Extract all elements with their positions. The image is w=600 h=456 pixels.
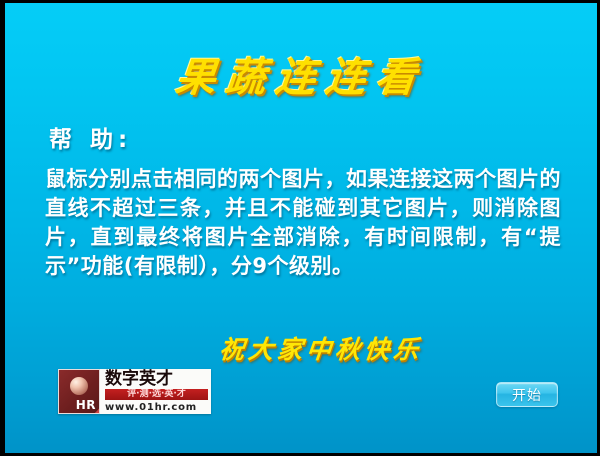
start-button-label: 开始 (512, 385, 542, 405)
game-screen: 果蔬连连看 帮 助: 鼠标分别点击相同的两个图片，如果连接这两个图片的直线不超过… (5, 3, 597, 453)
start-button[interactable]: 开始 (496, 382, 558, 407)
brand-url: www.01hr.com (105, 401, 208, 414)
brand-name: 数字英才 (105, 370, 208, 388)
game-window: 果蔬连连看 帮 助: 鼠标分别点击相同的两个图片，如果连接这两个图片的直线不超过… (0, 0, 600, 456)
help-heading: 帮 助: (49, 120, 132, 154)
page-title: 果蔬连连看 (5, 45, 597, 103)
brand-slogan: 评·测·选·英·才 (105, 389, 208, 400)
hr-logo-mark-icon: HR (58, 369, 100, 414)
logo-hr-label: HR (76, 398, 96, 412)
greeting-text: 祝大家中秋快乐 (5, 330, 597, 366)
help-body-text: 鼠标分别点击相同的两个图片，如果连接这两个图片的直线不超过三条，并且不能碰到其它… (45, 165, 561, 281)
brand-logo: HR 数字英才 评·测·选·英·才 www.01hr.com (58, 369, 211, 414)
sphere-icon (70, 377, 88, 395)
logo-text-block: 数字英才 评·测·选·英·才 www.01hr.com (100, 369, 211, 414)
